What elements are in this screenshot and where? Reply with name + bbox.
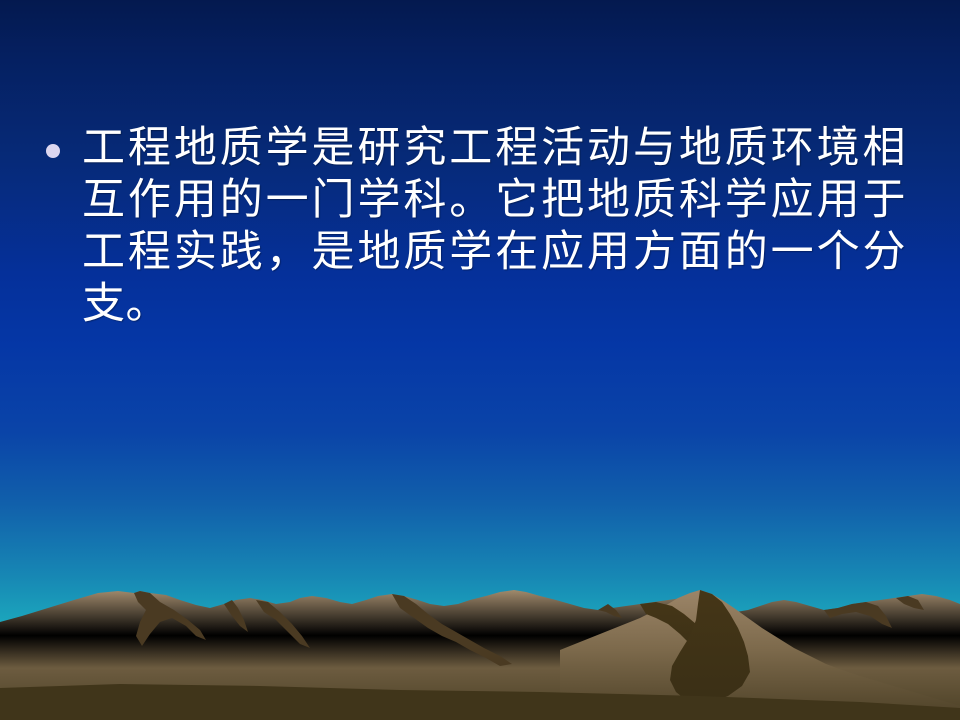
bullet-point-icon (46, 144, 60, 158)
mountain-silhouette (0, 560, 960, 720)
slide-body-text: 工程地质学是研究工程活动与地质环境相互作用的一门学科。它把地质科学应用于工程实践… (46, 122, 906, 330)
body-paragraph: 工程地质学是研究工程活动与地质环境相互作用的一门学科。它把地质科学应用于工程实践… (82, 122, 906, 330)
presentation-slide: 工程地质学是研究工程活动与地质环境相互作用的一门学科。它把地质科学应用于工程实践… (0, 0, 960, 720)
